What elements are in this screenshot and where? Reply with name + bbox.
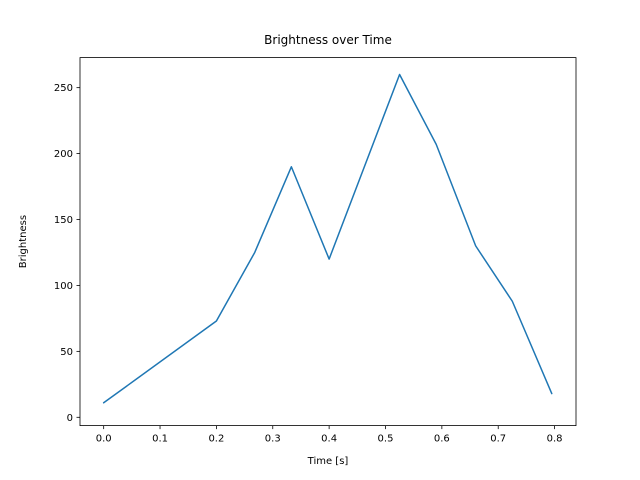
x-tick-label: 0.4: [321, 434, 337, 445]
x-axis-label: Time [s]: [307, 456, 349, 467]
plot-area-background: [80, 58, 576, 426]
x-tick-label: 0.5: [378, 434, 394, 445]
y-tick-label: 200: [54, 149, 73, 160]
figure-canvas: Brightness over Time 0.00.10.20.30.40.50…: [0, 0, 640, 480]
x-tick-label: 0.8: [547, 434, 563, 445]
y-tick-label: 50: [60, 347, 73, 358]
x-tick-label: 0.3: [265, 434, 281, 445]
y-tick-label: 100: [54, 281, 73, 292]
x-tick-label: 0.1: [152, 434, 168, 445]
chart-title: Brightness over Time: [264, 33, 392, 47]
x-tick-label: 0.6: [434, 434, 450, 445]
y-axis-label: Brightness: [18, 215, 29, 268]
y-tick-label: 0: [67, 413, 73, 424]
x-tick-label: 0.0: [96, 434, 112, 445]
y-tick-label: 150: [54, 215, 73, 226]
x-tick-label: 0.2: [208, 434, 224, 445]
chart-svg: Brightness over Time 0.00.10.20.30.40.50…: [0, 0, 640, 480]
x-tick-label: 0.7: [490, 434, 506, 445]
y-tick-label: 250: [54, 83, 73, 94]
